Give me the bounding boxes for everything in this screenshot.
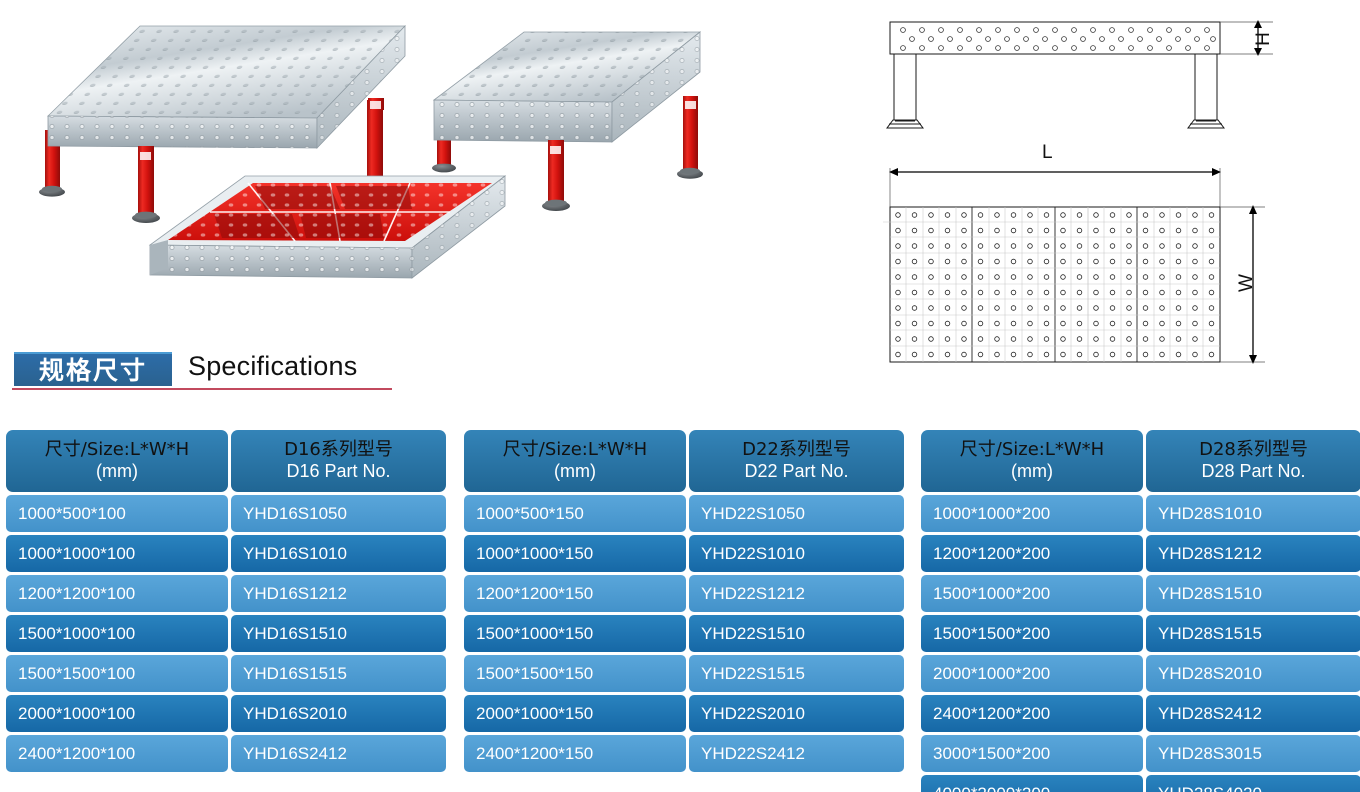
drawing-svg (865, 0, 1360, 400)
section-title-cn: 规格尺寸 (39, 358, 147, 383)
table-top (434, 32, 700, 142)
table-row[interactable]: 2000*1000*100 YHD16S2010 (6, 695, 446, 732)
cell-size: 1200*1200*200 (921, 535, 1143, 572)
section-title-en: Specifications (188, 351, 357, 382)
table-row[interactable]: 4000*2000*200 YHD28S4020 (921, 775, 1360, 792)
leg-foot (887, 120, 923, 128)
cell-size: 1000*1000*200 (921, 495, 1143, 532)
section-banner-box: 规格尺寸 (14, 352, 172, 386)
cell-part: YHD22S1050 (689, 495, 904, 532)
table-row[interactable]: 1000*1000*200 YHD28S1010 (921, 495, 1360, 532)
table-row[interactable]: 1200*1200*100 YHD16S1212 (6, 575, 446, 612)
cell-part: YHD22S1010 (689, 535, 904, 572)
cell-size: 3000*1500*200 (921, 735, 1143, 772)
cell-part: YHD22S2412 (689, 735, 904, 772)
cell-size: 1000*500*100 (6, 495, 228, 532)
leg-foot (1188, 120, 1224, 128)
specification-tables: 尺寸/Size:L*W*H (mm) D16系列型号 D16 Part No. … (0, 430, 1360, 790)
cell-part: YHD28S3015 (1146, 735, 1360, 772)
cell-part: YHD16S1010 (231, 535, 446, 572)
cell-part: YHD28S1510 (1146, 575, 1360, 612)
table-row[interactable]: 1200*1200*200 YHD28S1212 (921, 535, 1360, 572)
header-part-d22: D22系列型号 D22 Part No. (689, 430, 904, 492)
table-top (48, 26, 405, 148)
cell-size: 1500*1500*100 (6, 655, 228, 692)
cell-part: YHD28S4020 (1146, 775, 1360, 792)
header-size-d16: 尺寸/Size:L*W*H (mm) (6, 430, 228, 492)
product-photos (0, 0, 860, 340)
cell-size: 1500*1000*200 (921, 575, 1143, 612)
spec-table-d16: 尺寸/Size:L*W*H (mm) D16系列型号 D16 Part No. … (6, 430, 446, 775)
table-row[interactable]: 2400*1200*100 YHD16S2412 (6, 735, 446, 772)
table-row[interactable]: 2000*1000*200 YHD28S2010 (921, 655, 1360, 692)
dimension-label-height: H (1253, 32, 1275, 46)
cell-part: YHD16S1510 (231, 615, 446, 652)
table-row[interactable]: 2400*1200*200 YHD28S2412 (921, 695, 1360, 732)
page-root: H L W 规格尺寸 Specifications 尺寸/Size:L*W*H … (0, 0, 1360, 792)
cell-size: 1000*1000*100 (6, 535, 228, 572)
spec-table-d28: 尺寸/Size:L*W*H (mm) D28系列型号 D28 Part No. … (921, 430, 1360, 792)
table-row[interactable]: 3000*1500*200 YHD28S3015 (921, 735, 1360, 772)
dimension-label-length: L (1042, 142, 1053, 164)
cell-part: YHD16S2010 (231, 695, 446, 732)
elevation-view (887, 20, 1273, 128)
header-size-d28: 尺寸/Size:L*W*H (mm) (921, 430, 1143, 492)
header-part-d28: D28系列型号 D28 Part No. (1146, 430, 1360, 492)
table-leg (677, 96, 703, 179)
technical-drawing: H L W (865, 0, 1360, 400)
cell-size: 1500*1500*150 (464, 655, 686, 692)
table-header-row: 尺寸/Size:L*W*H (mm) D16系列型号 D16 Part No. (6, 430, 446, 492)
cell-size: 2000*1000*100 (6, 695, 228, 732)
cell-size: 1200*1200*100 (6, 575, 228, 612)
cell-size: 1200*1200*150 (464, 575, 686, 612)
cell-part: YHD28S2010 (1146, 655, 1360, 692)
table-leg (542, 140, 570, 211)
dimension-label-width: W (1236, 274, 1258, 292)
table-row[interactable]: 1200*1200*150 YHD22S1212 (464, 575, 904, 612)
table-row[interactable]: 1500*1500*200 YHD28S1515 (921, 615, 1360, 652)
plan-view (883, 168, 1265, 364)
table-row[interactable]: 1000*500*150 YHD22S1050 (464, 495, 904, 532)
header-part-d16: D16系列型号 D16 Part No. (231, 430, 446, 492)
spec-table-d22: 尺寸/Size:L*W*H (mm) D22系列型号 D22 Part No. … (464, 430, 904, 775)
cell-part: YHD28S1515 (1146, 615, 1360, 652)
cell-size: 1500*1500*200 (921, 615, 1143, 652)
table-row[interactable]: 1500*1000*100 YHD16S1510 (6, 615, 446, 652)
cell-part: YHD28S1212 (1146, 535, 1360, 572)
cell-part: YHD28S2412 (1146, 695, 1360, 732)
cell-size: 1500*1000*150 (464, 615, 686, 652)
table-header-row: 尺寸/Size:L*W*H (mm) D22系列型号 D22 Part No. (464, 430, 904, 492)
welding-table-inverted (150, 176, 505, 278)
cell-part: YHD22S1212 (689, 575, 904, 612)
table-leg (132, 146, 160, 223)
cell-part: YHD16S1212 (231, 575, 446, 612)
table-row[interactable]: 2400*1200*150 YHD22S2412 (464, 735, 904, 772)
cell-part: YHD22S1515 (689, 655, 904, 692)
cell-part: YHD16S2412 (231, 735, 446, 772)
cell-part: YHD28S1010 (1146, 495, 1360, 532)
table-row[interactable]: 2000*1000*150 YHD22S2010 (464, 695, 904, 732)
table-row[interactable]: 1500*1000*200 YHD28S1510 (921, 575, 1360, 612)
cell-size: 2000*1000*200 (921, 655, 1143, 692)
cell-part: YHD16S1050 (231, 495, 446, 532)
cell-part: YHD22S1510 (689, 615, 904, 652)
table-row[interactable]: 1500*1000*150 YHD22S1510 (464, 615, 904, 652)
cell-size: 2400*1200*200 (921, 695, 1143, 732)
table-header-row: 尺寸/Size:L*W*H (mm) D28系列型号 D28 Part No. (921, 430, 1360, 492)
section-banner: 规格尺寸 Specifications (0, 350, 700, 394)
table-row[interactable]: 1500*1500*150 YHD22S1515 (464, 655, 904, 692)
cell-size: 1000*500*150 (464, 495, 686, 532)
length-dimension-arrow (889, 168, 1221, 176)
cell-size: 4000*2000*200 (921, 775, 1143, 792)
table-row[interactable]: 1000*500*100 YHD16S1050 (6, 495, 446, 532)
cell-part: YHD22S2010 (689, 695, 904, 732)
cell-size: 1500*1000*100 (6, 615, 228, 652)
table-leg (368, 98, 384, 110)
product-illustrations (0, 0, 860, 340)
header-size-d22: 尺寸/Size:L*W*H (mm) (464, 430, 686, 492)
cell-size: 2400*1200*100 (6, 735, 228, 772)
cell-size: 2000*1000*150 (464, 695, 686, 732)
cell-size: 1000*1000*150 (464, 535, 686, 572)
cell-size: 2400*1200*150 (464, 735, 686, 772)
table-row[interactable]: 1000*1000*150 YHD22S1010 (464, 535, 904, 572)
table-row[interactable]: 1000*1000*100 YHD16S1010 (6, 535, 446, 572)
table-row[interactable]: 1500*1500*100 YHD16S1515 (6, 655, 446, 692)
cell-part: YHD16S1515 (231, 655, 446, 692)
section-divider (12, 388, 392, 390)
